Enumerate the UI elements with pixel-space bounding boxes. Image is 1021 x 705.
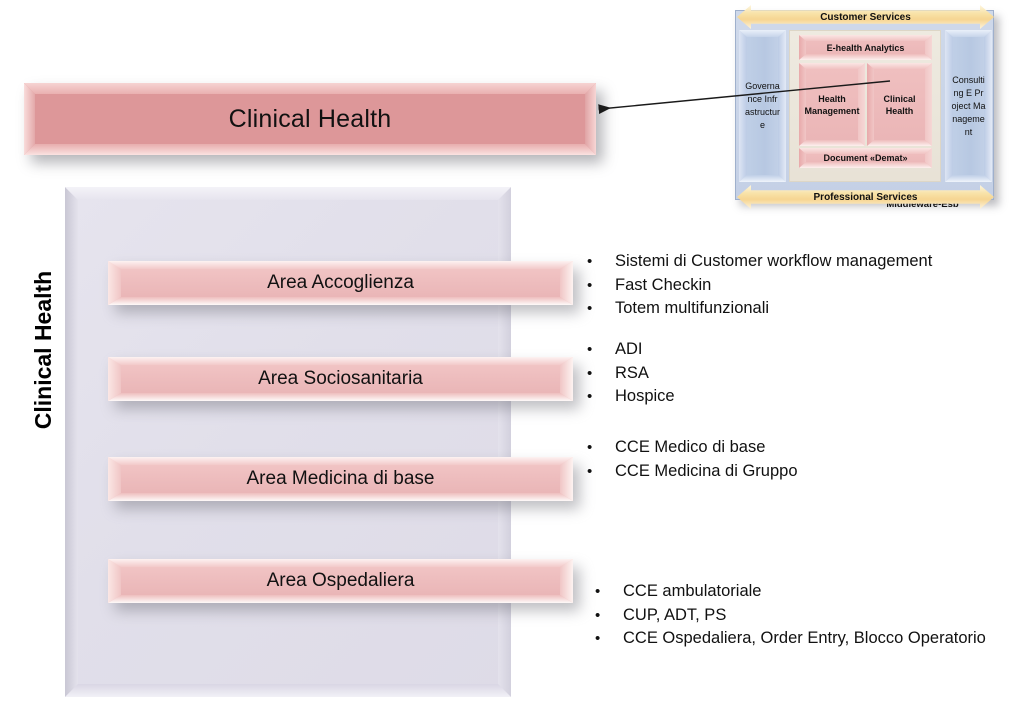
bullet-icon: • <box>587 250 615 274</box>
mini-cell-health-management[interactable]: Health Management <box>799 63 865 146</box>
area-bar-label: Area Accoglienza <box>108 261 573 305</box>
main-banner-clinical-health[interactable]: Clinical Health <box>24 83 596 155</box>
container-panel-bevel-top <box>65 187 511 200</box>
list-item: • CCE Ospedaliera, Order Entry, Blocco O… <box>595 627 986 651</box>
mini-column-bevel-top <box>739 30 786 37</box>
bullet-icon: • <box>587 274 615 298</box>
list-item: • ADI <box>587 338 675 362</box>
bullet-text: CCE Medicina di Gruppo <box>615 460 798 484</box>
container-panel-bevel-bottom <box>65 684 511 697</box>
area-bar-label: Area Ospedaliera <box>108 559 573 603</box>
mini-cell-clinical-health[interactable]: Clinical Health <box>867 63 932 146</box>
mini-column-label: Governance Infrastructure <box>745 39 780 173</box>
area-bar-label: Area Medicina di base <box>108 457 573 501</box>
bullet-list-accoglienza: • Sistemi di Customer workflow managemen… <box>587 250 932 321</box>
area-bar-label: Area Sociosanitaria <box>108 357 573 401</box>
bullet-text: CCE ambulatoriale <box>623 580 761 604</box>
bullet-text: CCE Ospedaliera, Order Entry, Blocco Ope… <box>623 627 986 651</box>
mini-cell-bevel-right <box>925 63 932 146</box>
area-bar-medicina-di-base[interactable]: Area Medicina di base <box>108 457 573 501</box>
list-item: • Hospice <box>587 385 675 409</box>
mini-cell-label: E-health Analytics <box>807 40 924 55</box>
area-bar-sociosanitaria[interactable]: Area Sociosanitaria <box>108 357 573 401</box>
mini-column-consulting-project-management[interactable]: Consulting E Project Management <box>945 30 992 182</box>
bullet-icon: • <box>587 460 615 484</box>
main-banner-label: Clinical Health <box>24 83 596 155</box>
list-item: • Totem multifunzionali <box>587 297 932 321</box>
bullet-text: RSA <box>615 362 649 386</box>
bullet-icon: • <box>595 604 623 628</box>
mini-cell-document-demat[interactable]: Document «Demat» <box>799 148 932 168</box>
bullet-text: Fast Checkin <box>615 274 711 298</box>
list-item: • CCE Medico di base <box>587 436 798 460</box>
mini-cell-label: Document «Demat» <box>807 153 924 163</box>
bullet-icon: • <box>587 362 615 386</box>
bullet-list-ospedaliera: • CCE ambulatoriale • CUP, ADT, PS • CCE… <box>595 580 986 651</box>
list-item: • CUP, ADT, PS <box>595 604 986 628</box>
mini-column-governance-infrastructure[interactable]: Governance Infrastructure <box>739 30 786 182</box>
bullet-text: ADI <box>615 338 643 362</box>
bullet-icon: • <box>587 338 615 362</box>
mini-band-label: Professional Services <box>814 192 918 203</box>
mini-cell-ehealth-analytics[interactable]: E-health Analytics <box>799 35 932 60</box>
mini-column-label: Consulting E Project Management <box>951 39 986 173</box>
bullet-text: CCE Medico di base <box>615 436 765 460</box>
bullet-list-medicina-di-base: • CCE Medico di base • CCE Medicina di G… <box>587 436 798 483</box>
bullet-icon: • <box>587 436 615 460</box>
list-item: • CCE ambulatoriale <box>595 580 986 604</box>
mini-column-bevel-bottom <box>945 175 992 182</box>
bullet-text: Hospice <box>615 385 675 409</box>
container-panel-bevel-left <box>65 187 78 697</box>
bullet-icon: • <box>587 385 615 409</box>
architecture-mini-diagram[interactable]: Customer Services Governance Infrastruct… <box>733 2 998 208</box>
list-item: • CCE Medicina di Gruppo <box>587 460 798 484</box>
bullet-text: Totem multifunzionali <box>615 297 769 321</box>
area-bar-ospedaliera[interactable]: Area Ospedaliera <box>108 559 573 603</box>
mini-cell-bevel-left <box>867 63 874 146</box>
bullet-icon: • <box>587 297 615 321</box>
list-item: • RSA <box>587 362 675 386</box>
mini-cell-label: Health Management <box>807 68 857 141</box>
bullet-icon: • <box>595 580 623 604</box>
bullet-list-sociosanitaria: • ADI • RSA • Hospice <box>587 338 675 409</box>
mini-column-bevel-top <box>945 30 992 37</box>
area-bar-accoglienza[interactable]: Area Accoglienza <box>108 261 573 305</box>
mini-band-label: Customer Services <box>820 12 911 23</box>
bullet-icon: • <box>595 627 623 651</box>
bullet-text: Sistemi di Customer workflow management <box>615 250 932 274</box>
list-item: • Sistemi di Customer workflow managemen… <box>587 250 932 274</box>
mini-column-bevel-bottom <box>739 175 786 182</box>
bullet-text: CUP, ADT, PS <box>623 604 726 628</box>
vertical-axis-title: Clinical Health <box>23 255 63 445</box>
mini-cell-label: Clinical Health <box>875 68 924 141</box>
list-item: • Fast Checkin <box>587 274 932 298</box>
